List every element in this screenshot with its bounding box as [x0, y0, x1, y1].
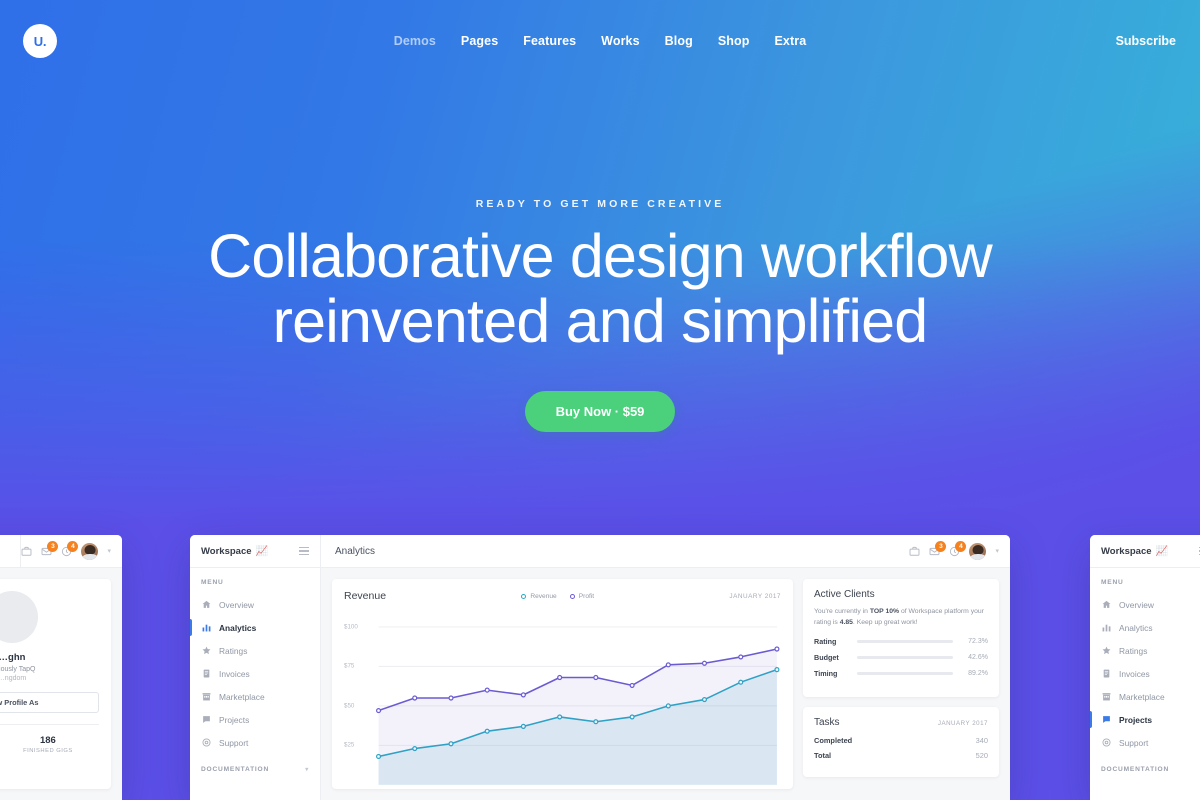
desc-rating: 4.85	[840, 619, 853, 626]
sidebar-item-label: Invoices	[1119, 669, 1150, 679]
sidebar-item-label: Projects	[1119, 715, 1152, 725]
tasks-row-key: Completed	[814, 736, 852, 745]
nav-item-shop[interactable]: Shop	[718, 34, 750, 48]
chart-svg	[344, 607, 781, 789]
chevron-down-icon[interactable]: ▾	[107, 547, 111, 555]
sidebar-section-label: DOCUMENTATION	[1101, 766, 1169, 773]
bar-chart-icon	[1101, 623, 1112, 632]
metric-value: 42.6%	[960, 654, 988, 661]
profile-stat-label: FINISHED GIGS	[23, 748, 73, 754]
sidebar-item-label: Ratings	[219, 646, 247, 656]
metric-label: Budget	[814, 653, 850, 662]
sidebar-item-overview[interactable]: Overview	[190, 593, 320, 616]
metric-value: 89.2%	[960, 670, 988, 677]
chart-header: Revenue Revenue Profit JANUARY 2017	[344, 590, 781, 602]
subscribe-link[interactable]: Subscribe	[1116, 34, 1176, 48]
dashboard-topbar: Workspace 📈 Analytics 3 4 ▾	[190, 535, 1010, 568]
sidebar-item-support[interactable]: Support	[190, 731, 320, 754]
right-sidebar-item-ratings[interactable]: Ratings	[1090, 639, 1200, 662]
messages-icon[interactable]: 3	[929, 546, 940, 557]
nav-item-pages[interactable]: Pages	[461, 34, 498, 48]
right-sidebar-item-analytics[interactable]: Analytics	[1090, 616, 1200, 639]
sidebar-item-label: Marketplace	[1119, 692, 1165, 702]
logo[interactable]: U.	[23, 24, 57, 58]
nav-item-features[interactable]: Features	[523, 34, 576, 48]
tasks-row-key: Total	[814, 751, 831, 760]
alerts-badge: 4	[955, 541, 966, 552]
home-icon	[201, 600, 212, 609]
active-clients-card: Active Clients You're currently in TOP 1…	[803, 579, 999, 697]
right-workspace-brand[interactable]: Workspace 📈	[1090, 535, 1200, 567]
bar-chart-icon	[201, 623, 212, 632]
dashboard-mockup-left: 3 4 ▾ …ghn …viously TapQ …ngdom View Pro…	[0, 535, 122, 800]
tasks-card: Tasks JANUARY 2017 Completed 340 Total 5…	[803, 707, 999, 777]
metric-track	[857, 656, 953, 659]
chart-y-tick-label: $50	[344, 702, 354, 709]
page-title: Analytics	[321, 546, 389, 557]
metric-value: 72.3%	[960, 638, 988, 645]
hero-eyebrow: READY TO GET MORE CREATIVE	[0, 198, 1200, 210]
chat-icon	[201, 715, 212, 724]
left-body: …ghn …viously TapQ …ngdom View Profile A…	[0, 568, 122, 800]
messages-badge: 3	[47, 541, 58, 552]
chevron-down-icon[interactable]: ▾	[995, 547, 999, 555]
tasks-row-value: 520	[976, 751, 988, 760]
dashboard-mockup-right: Workspace 📈 MENU Overview Analytics Rati…	[1090, 535, 1200, 800]
sidebar-item-label: Marketplace	[219, 692, 265, 702]
revenue-chart-card: Revenue Revenue Profit JANUARY 2017	[332, 579, 793, 789]
legend-dot-icon	[570, 594, 575, 599]
sidebar-item-analytics[interactable]: Analytics	[190, 616, 320, 639]
chart-legend: Revenue Profit	[521, 593, 594, 600]
active-clients-description: You're currently in TOP 10% of Workspace…	[814, 606, 988, 628]
buy-now-button[interactable]: Buy Now · $59	[525, 391, 676, 432]
chart-plot: $25$50$75$100	[344, 607, 781, 789]
legend-item-profit[interactable]: Profit	[570, 593, 594, 600]
sidebar-item-label: Overview	[1119, 600, 1154, 610]
left-topbar-icons: 3 4 ▾	[21, 543, 122, 560]
store-icon	[201, 692, 212, 701]
alerts-badge: 4	[67, 541, 78, 552]
right-topbar: Workspace 📈	[1090, 535, 1200, 568]
right-sidebar-item-overview[interactable]: Overview	[1090, 593, 1200, 616]
metric-label: Timing	[814, 669, 850, 678]
right-body: MENU Overview Analytics Ratings Invoices…	[1090, 568, 1200, 800]
sidebar-item-marketplace[interactable]: Marketplace	[190, 685, 320, 708]
sidebar-section-documentation[interactable]: DOCUMENTATION ▾	[190, 766, 320, 773]
nav-item-extra[interactable]: Extra	[774, 34, 806, 48]
dashboard-mockup-center: Workspace 📈 Analytics 3 4 ▾ MENU	[190, 535, 1010, 800]
sidebar-item-invoices[interactable]: Invoices	[190, 662, 320, 685]
sidebar-toggle-icon[interactable]	[299, 547, 309, 555]
hero-headline-line2: reinvented and simplified	[273, 287, 928, 355]
trend-icon: 📈	[1156, 546, 1168, 557]
invoice-icon	[201, 669, 212, 678]
chart-y-tick-label: $75	[344, 663, 354, 670]
right-sidebar-item-marketplace[interactable]: Marketplace	[1090, 685, 1200, 708]
sidebar-item-label: Support	[1119, 738, 1148, 748]
hero-headline: Collaborative design workflow reinvented…	[0, 224, 1200, 353]
metric-row-rating: Rating 72.3%	[814, 637, 988, 646]
profile-subtitle: …viously TapQ	[0, 666, 35, 673]
navbar: U. Demos Pages Features Works Blog Shop …	[0, 0, 1200, 82]
profile-stat: 186 FINISHED GIGS	[23, 735, 73, 754]
legend-label: Revenue	[530, 593, 556, 600]
right-brand-label: Workspace	[1101, 546, 1152, 557]
legend-dot-icon	[521, 594, 526, 599]
right-sidebar-item-projects[interactable]: Projects	[1090, 708, 1200, 731]
right-sidebar-menu-caption: MENU	[1090, 579, 1200, 586]
metric-row-budget: Budget 42.6%	[814, 653, 988, 662]
sidebar-item-label: Analytics	[1119, 623, 1153, 633]
logo-text: U.	[34, 34, 46, 49]
metric-row-timing: Timing 89.2%	[814, 669, 988, 678]
chart-title: Revenue	[344, 590, 386, 602]
workspace-brand[interactable]: Workspace 📈	[190, 535, 321, 567]
hero-headline-line1: Collaborative design workflow	[208, 222, 992, 290]
chart-y-tick-label: $100	[344, 623, 358, 630]
profile-stat-number: 186	[23, 735, 73, 746]
lifebuoy-icon	[1101, 738, 1112, 747]
right-sidebar-item-support[interactable]: Support	[1090, 731, 1200, 754]
messages-badge: 3	[935, 541, 946, 552]
tasks-date-label: JANUARY 2017	[938, 720, 988, 727]
chat-icon	[1101, 715, 1112, 724]
sidebar-item-label: Projects	[219, 715, 249, 725]
store-icon	[1101, 692, 1112, 701]
profile-stats: …4 …NTS 186 FINISHED GIGS	[0, 724, 99, 754]
right-sidebar-item-invoices[interactable]: Invoices	[1090, 662, 1200, 685]
star-icon	[201, 646, 212, 655]
tasks-header: Tasks JANUARY 2017	[814, 717, 988, 728]
metric-label: Rating	[814, 637, 850, 646]
chart-y-tick-label: $25	[344, 742, 354, 749]
tasks-row-total: Total 520	[814, 751, 988, 760]
sidebar-item-label: Analytics	[219, 623, 256, 633]
left-topbar: 3 4 ▾	[0, 535, 122, 568]
right-sidebar-section-documentation[interactable]: DOCUMENTATION ▾	[1090, 766, 1200, 773]
dashboard-topbar-icons: 3 4 ▾	[909, 543, 1010, 560]
workspace-brand-label: Workspace	[201, 546, 252, 557]
sidebar-item-ratings[interactable]: Ratings	[190, 639, 320, 662]
nav-item-demos[interactable]: Demos	[394, 34, 436, 48]
messages-icon[interactable]: 3	[41, 546, 52, 557]
profile-card: …ghn …viously TapQ …ngdom View Profile A…	[0, 579, 111, 789]
nav-item-works[interactable]: Works	[601, 34, 639, 48]
alerts-icon[interactable]: 4	[61, 546, 72, 557]
dashboard-body: MENU Overview Analytics Ratings Invoices…	[190, 568, 1010, 800]
avatar[interactable]	[81, 543, 98, 560]
profile-avatar	[0, 591, 38, 643]
dashboard-right-column: Active Clients You're currently in TOP 1…	[803, 579, 999, 789]
tasks-row-value: 340	[976, 736, 988, 745]
tasks-row-completed: Completed 340	[814, 736, 988, 745]
view-profile-as-button[interactable]: View Profile As	[0, 692, 99, 713]
nav-links: Demos Pages Features Works Blog Shop Ext…	[394, 34, 807, 48]
legend-item-revenue[interactable]: Revenue	[521, 593, 556, 600]
sidebar-item-label: Ratings	[1119, 646, 1147, 656]
active-clients-title: Active Clients	[814, 589, 988, 600]
desc-pre: You're currently in	[814, 608, 870, 615]
sidebar-item-label: Overview	[219, 600, 254, 610]
sidebar-item-label: Support	[219, 738, 248, 748]
alerts-icon[interactable]: 4	[949, 546, 960, 557]
sidebar-menu-caption: MENU	[190, 579, 320, 586]
sidebar-section-label: DOCUMENTATION	[201, 766, 269, 773]
trend-icon: 📈	[256, 546, 268, 557]
legend-label: Profit	[579, 593, 594, 600]
left-brand[interactable]	[0, 535, 21, 567]
sidebar: MENU Overview Analytics Ratings Invoices…	[190, 568, 321, 800]
sidebar-item-label: Invoices	[219, 669, 250, 679]
sidebar-item-projects[interactable]: Projects	[190, 708, 320, 731]
desc-top-percent: TOP 10%	[870, 608, 899, 615]
profile-name: …ghn	[0, 652, 25, 663]
metric-track	[857, 640, 953, 643]
star-icon	[1101, 646, 1112, 655]
lifebuoy-icon	[201, 738, 212, 747]
chevron-down-icon: ▾	[305, 766, 309, 773]
chart-date-label: JANUARY 2017	[729, 593, 781, 600]
profile-location: …ngdom	[0, 675, 26, 682]
metric-track	[857, 672, 953, 675]
briefcase-icon[interactable]	[909, 546, 920, 557]
tasks-title: Tasks	[814, 717, 840, 728]
nav-item-blog[interactable]: Blog	[665, 34, 693, 48]
invoice-icon	[1101, 669, 1112, 678]
dashboard-main: Revenue Revenue Profit JANUARY 2017	[321, 568, 1010, 800]
desc-post: . Keep up great work!	[853, 619, 918, 626]
avatar[interactable]	[969, 543, 986, 560]
home-icon	[1101, 600, 1112, 609]
briefcase-icon[interactable]	[21, 546, 32, 557]
right-sidebar: MENU Overview Analytics Ratings Invoices…	[1090, 568, 1200, 800]
